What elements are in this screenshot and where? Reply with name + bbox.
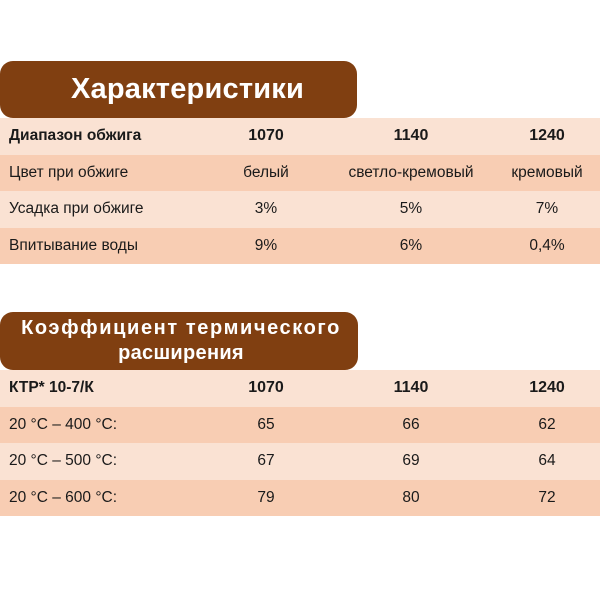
- row-value-1140: 69: [337, 443, 485, 480]
- spec-sheet: Характеристики Диапазон обжига 1070 1140…: [0, 0, 600, 600]
- row-value-1140: 6%: [337, 228, 485, 265]
- table-row: 20 °C – 500 °C: 67 69 64: [0, 443, 600, 480]
- row-value-1070: 3%: [195, 191, 337, 228]
- row-label: 20 °C – 500 °C:: [0, 443, 195, 480]
- section-title-characteristics: Характеристики: [0, 61, 357, 118]
- row-value-1240: 7%: [485, 191, 600, 228]
- row-label: Цвет при обжиге: [0, 155, 195, 192]
- row-value-1070: белый: [195, 155, 337, 192]
- row-value-1070: 79: [195, 480, 337, 517]
- row-value-1140: 80: [337, 480, 485, 517]
- row-value-1140: 5%: [337, 191, 485, 228]
- section-title-thermal-expansion-line1: Коэффициент термического: [21, 316, 341, 341]
- table-row: 20 °C – 400 °C: 65 66 62: [0, 407, 600, 444]
- row-value-1240: 62: [485, 407, 600, 444]
- section-title-thermal-expansion-line2: расширения: [118, 341, 244, 366]
- table-row: Усадка при обжиге 3% 5% 7%: [0, 191, 600, 228]
- row-value-1070: 65: [195, 407, 337, 444]
- table-row: Впитывание воды 9% 6% 0,4%: [0, 228, 600, 265]
- row-value-1240: 72: [485, 480, 600, 517]
- table-row: 20 °C – 600 °C: 79 80 72: [0, 480, 600, 517]
- table-header-label: Диапазон обжига: [0, 118, 195, 155]
- section-title-characteristics-label: Характеристики: [71, 73, 304, 106]
- table-header-row: КТР* 10-7/К 1070 1140 1240: [0, 370, 600, 407]
- row-value-1240: 0,4%: [485, 228, 600, 265]
- row-label: 20 °C – 600 °C:: [0, 480, 195, 517]
- table-header-col-1140: 1140: [337, 370, 485, 407]
- table-header-col-1070: 1070: [195, 118, 337, 155]
- row-value-1070: 67: [195, 443, 337, 480]
- table-header-label: КТР* 10-7/К: [0, 370, 195, 407]
- table-header-col-1140: 1140: [337, 118, 485, 155]
- table-header-col-1240: 1240: [485, 370, 600, 407]
- table-row: Цвет при обжиге белый светло-кремовый кр…: [0, 155, 600, 192]
- section-title-thermal-expansion: Коэффициент термического расширения: [0, 312, 358, 370]
- thermal-expansion-table: КТР* 10-7/К 1070 1140 1240 20 °C – 400 °…: [0, 370, 600, 516]
- row-value-1140: 66: [337, 407, 485, 444]
- characteristics-table: Диапазон обжига 1070 1140 1240 Цвет при …: [0, 118, 600, 264]
- row-value-1140: светло-кремовый: [337, 155, 485, 192]
- row-label: Усадка при обжиге: [0, 191, 195, 228]
- row-value-1240: 64: [485, 443, 600, 480]
- table-header-col-1240: 1240: [485, 118, 600, 155]
- row-label: 20 °C – 400 °C:: [0, 407, 195, 444]
- table-header-row: Диапазон обжига 1070 1140 1240: [0, 118, 600, 155]
- row-value-1240: кремовый: [485, 155, 600, 192]
- row-label: Впитывание воды: [0, 228, 195, 265]
- table-header-col-1070: 1070: [195, 370, 337, 407]
- row-value-1070: 9%: [195, 228, 337, 265]
